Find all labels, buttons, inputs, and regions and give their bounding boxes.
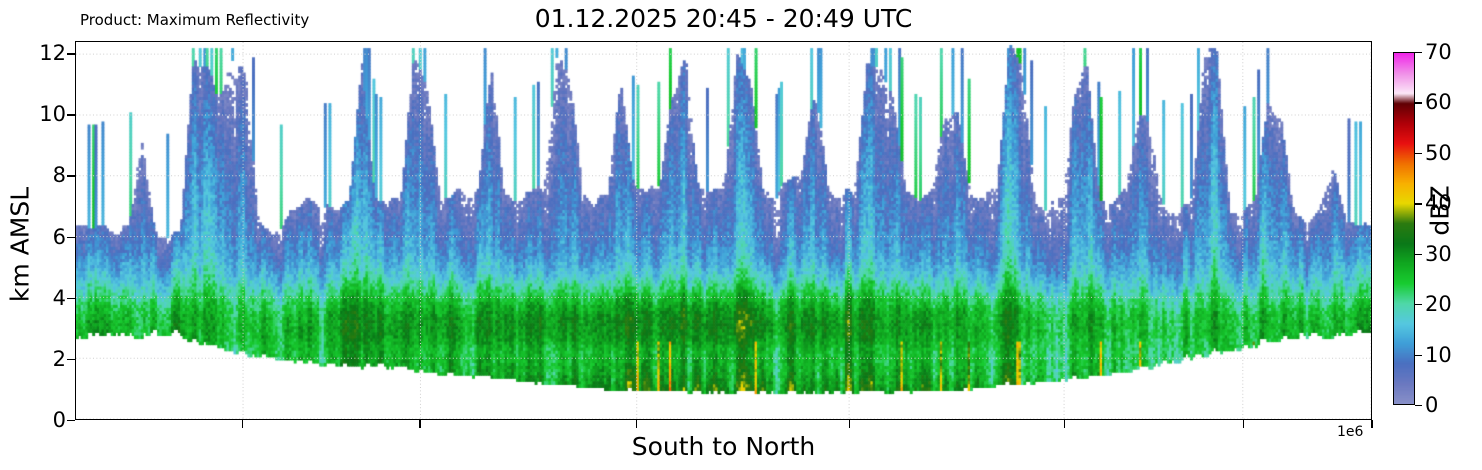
colorbar-tick-mark <box>1415 102 1422 103</box>
y-tick-mark <box>67 359 75 360</box>
colorbar-tick-label: 20 <box>1425 292 1452 316</box>
y-tick-mark <box>67 53 75 54</box>
x-tick-mark <box>1371 420 1372 428</box>
y-tick-mark <box>67 114 75 115</box>
y-axis-label: km AMSL <box>6 145 35 345</box>
radar-figure: 01.12.2025 20:45 - 20:49 UTC Product: Ma… <box>0 0 1482 470</box>
colorbar-tick-mark <box>1415 405 1422 406</box>
y-tick-label: 10 <box>39 102 66 126</box>
y-tick-mark <box>67 237 75 238</box>
y-tick-mark <box>67 420 75 421</box>
x-tick-mark <box>419 420 420 428</box>
colorbar-tick-mark <box>1415 52 1422 53</box>
x-tick-mark <box>1243 420 1244 428</box>
y-tick-mark <box>67 298 75 299</box>
colorbar-tick-mark <box>1415 153 1422 154</box>
colorbar-gradient <box>1394 53 1414 404</box>
plot-area <box>75 41 1372 420</box>
y-tick-label: 8 <box>53 163 66 187</box>
colorbar-tick-mark <box>1415 304 1422 305</box>
colorbar <box>1393 52 1415 405</box>
y-tick-label: 0 <box>53 408 66 432</box>
colorbar-tick-mark <box>1415 203 1422 204</box>
x-tick-mark <box>242 420 243 428</box>
y-tick-label: 12 <box>39 41 66 65</box>
y-tick-label: 4 <box>53 286 66 310</box>
y-tick-label: 2 <box>53 347 66 371</box>
colorbar-tick-label: 0 <box>1425 393 1438 417</box>
colorbar-tick-label: 10 <box>1425 343 1452 367</box>
colorbar-tick-label: 60 <box>1425 90 1452 114</box>
x-axis-offset-text: 1e6 <box>1337 424 1363 440</box>
x-tick-mark <box>849 420 850 428</box>
x-axis-label: South to North <box>75 432 1372 461</box>
colorbar-tick-mark <box>1415 355 1422 356</box>
radar-heatmap <box>76 42 1372 420</box>
y-tick-mark <box>67 175 75 176</box>
product-label: Product: Maximum Reflectivity <box>80 11 309 29</box>
colorbar-tick-label: 70 <box>1425 40 1452 64</box>
colorbar-tick-mark <box>1415 254 1422 255</box>
x-tick-mark <box>1064 420 1065 428</box>
colorbar-label: dBZ <box>1426 151 1455 271</box>
x-tick-mark <box>636 420 637 428</box>
y-tick-label: 6 <box>53 225 66 249</box>
